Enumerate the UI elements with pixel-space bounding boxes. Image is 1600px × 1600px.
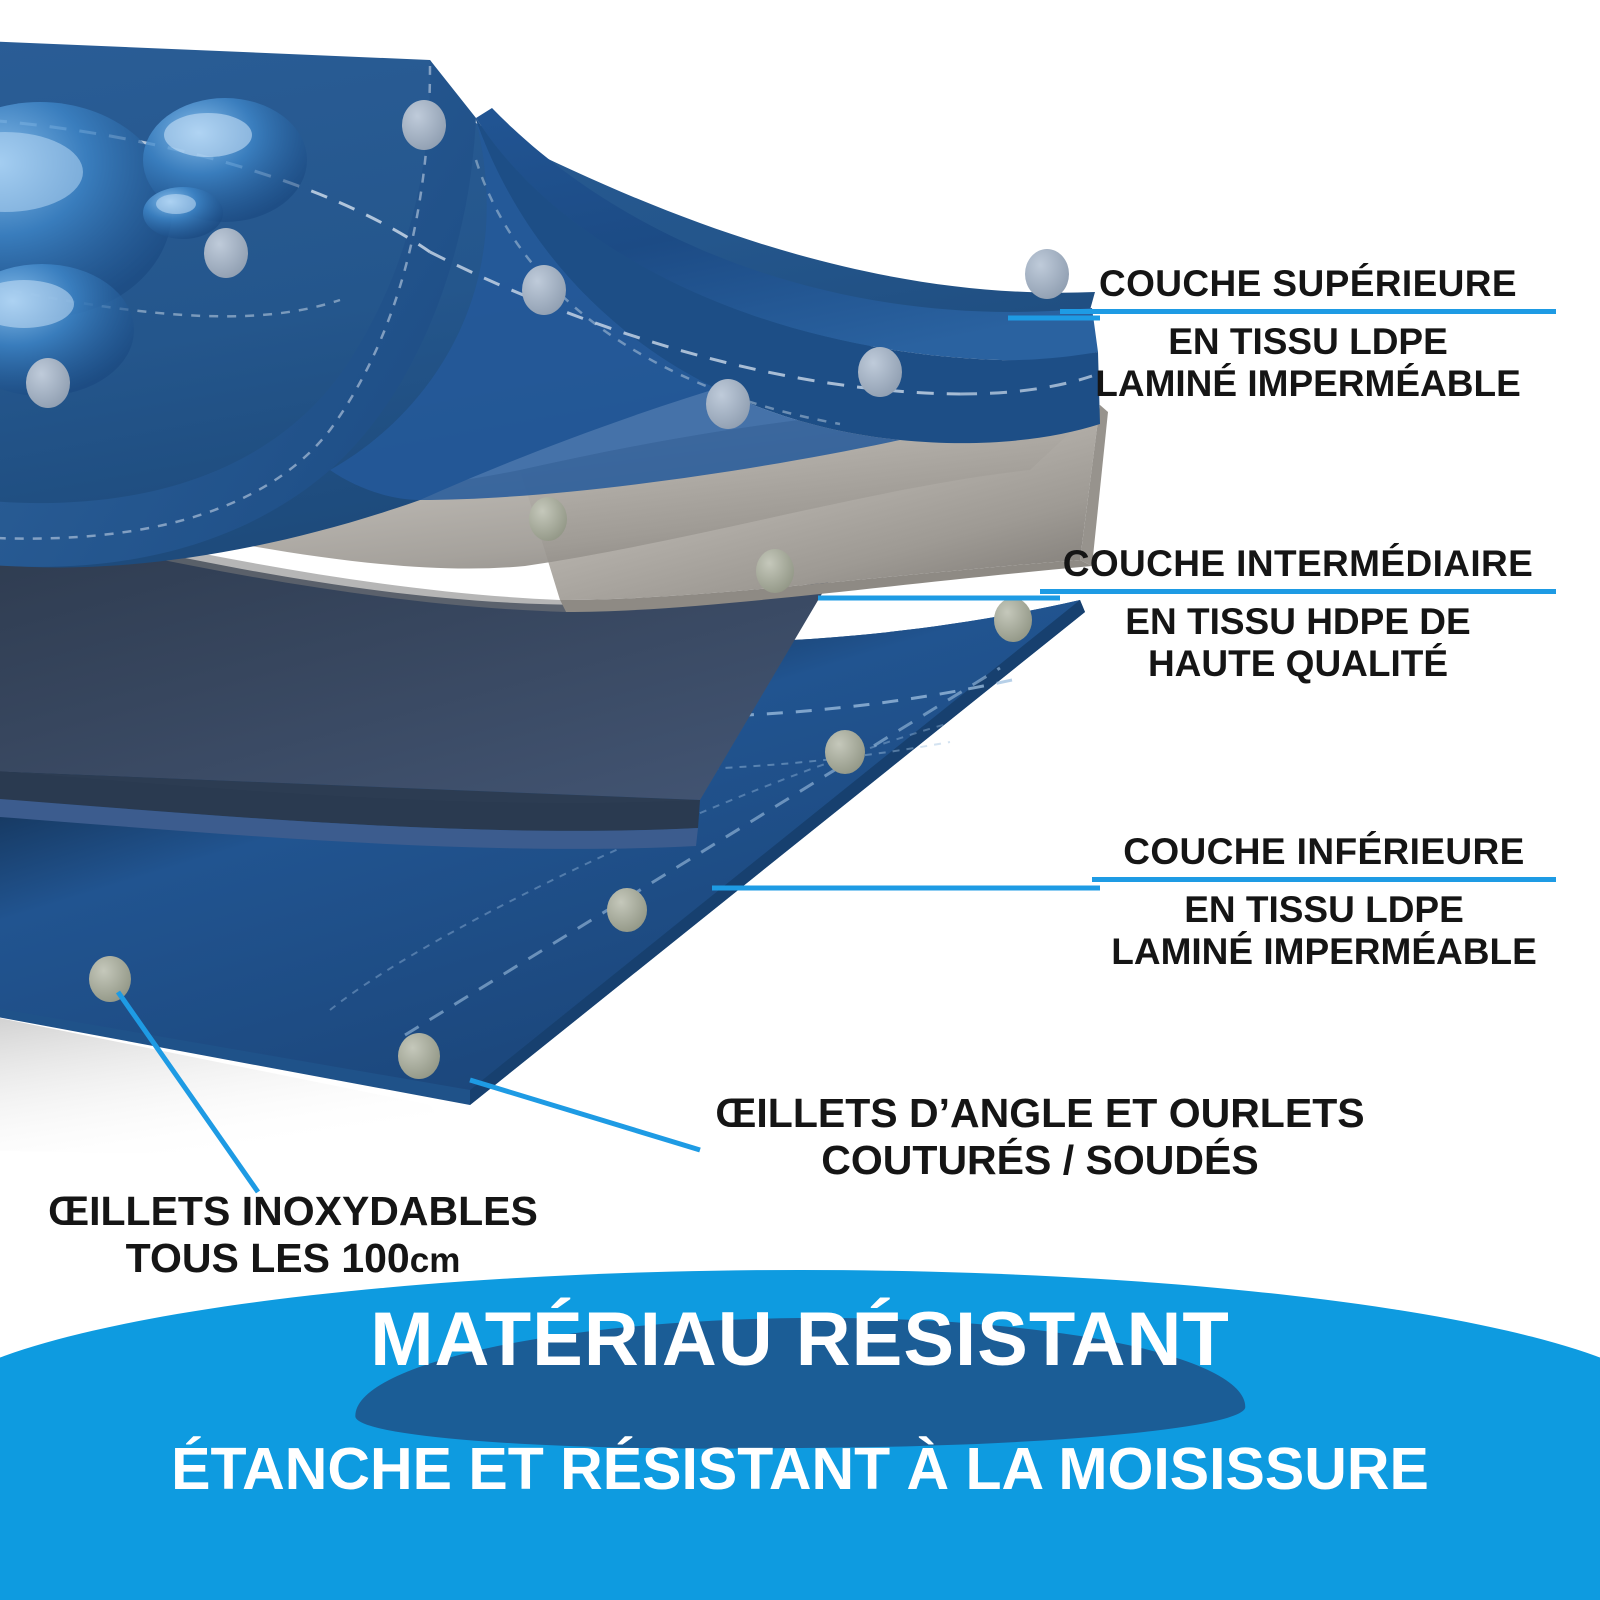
banner-title: MATÉRIAU RÉSISTANT xyxy=(0,1302,1600,1378)
callout-top-layer-sub-2: LAMINÉ IMPERMÉABLE xyxy=(1060,363,1556,404)
grommet xyxy=(706,379,750,429)
callout-corner-eyelets-line-2: COUTURÉS / SOUDÉS xyxy=(690,1137,1390,1184)
product-infographic: COUCHE SUPÉRIEURE EN TISSU LDPE LAMINÉ I… xyxy=(0,0,1600,1600)
callout-bottom-layer-sub-1: EN TISSU LDPE xyxy=(1092,889,1556,930)
callout-middle-layer-sub-2: HAUTE QUALITÉ xyxy=(1040,643,1556,684)
grommet xyxy=(26,358,70,408)
banner-subtitle: ÉTANCHE ET RÉSISTANT À LA MOISISSURE xyxy=(0,1440,1600,1499)
grommet xyxy=(402,100,446,150)
grommet xyxy=(607,888,647,932)
callout-corner-eyelets-line-1: ŒILLETS D’ANGLE ET OURLETS xyxy=(690,1090,1390,1137)
callout-bottom-layer-sub-2: LAMINÉ IMPERMÉABLE xyxy=(1092,931,1556,972)
callout-middle-layer-heading: COUCHE INTERMÉDIAIRE xyxy=(1040,544,1556,583)
callout-bottom-layer: COUCHE INFÉRIEURE EN TISSU LDPE LAMINÉ I… xyxy=(1092,832,1556,972)
grommet xyxy=(529,497,567,541)
callout-middle-layer-rule xyxy=(1040,589,1556,594)
callout-bottom-layer-rule xyxy=(1092,877,1556,882)
callout-middle-layer-sub-1: EN TISSU HDPE DE xyxy=(1040,601,1556,642)
grommet xyxy=(398,1033,440,1079)
callout-top-layer-heading: COUCHE SUPÉRIEURE xyxy=(1060,264,1556,303)
grommet xyxy=(858,347,902,397)
callout-middle-layer: COUCHE INTERMÉDIAIRE EN TISSU HDPE DE HA… xyxy=(1040,544,1556,684)
bottom-banner: MATÉRIAU RÉSISTANT ÉTANCHE ET RÉSISTANT … xyxy=(0,1270,1600,1600)
grommet xyxy=(522,265,566,315)
bottom-banner-inner: MATÉRIAU RÉSISTANT ÉTANCHE ET RÉSISTANT … xyxy=(0,1270,1600,1600)
callout-stainless-eyelets-line-1: ŒILLETS INOXYDABLES xyxy=(18,1188,568,1235)
grommet xyxy=(204,228,248,278)
grommet xyxy=(89,956,131,1002)
callout-top-layer-rule xyxy=(1060,309,1556,314)
leader-line-corner-eyelets xyxy=(470,1080,700,1150)
callout-corner-eyelets: ŒILLETS D’ANGLE ET OURLETS COUTURÉS / SO… xyxy=(690,1090,1390,1184)
callout-bottom-layer-heading: COUCHE INFÉRIEURE xyxy=(1092,832,1556,871)
grommet xyxy=(994,598,1032,642)
callout-stainless-eyelets: ŒILLETS INOXYDABLES TOUS LES 100cm xyxy=(18,1188,568,1282)
callout-top-layer: COUCHE SUPÉRIEURE EN TISSU LDPE LAMINÉ I… xyxy=(1060,264,1556,404)
callout-top-layer-sub-1: EN TISSU LDPE xyxy=(1060,321,1556,362)
grommet xyxy=(825,730,865,774)
grommet xyxy=(756,549,794,593)
